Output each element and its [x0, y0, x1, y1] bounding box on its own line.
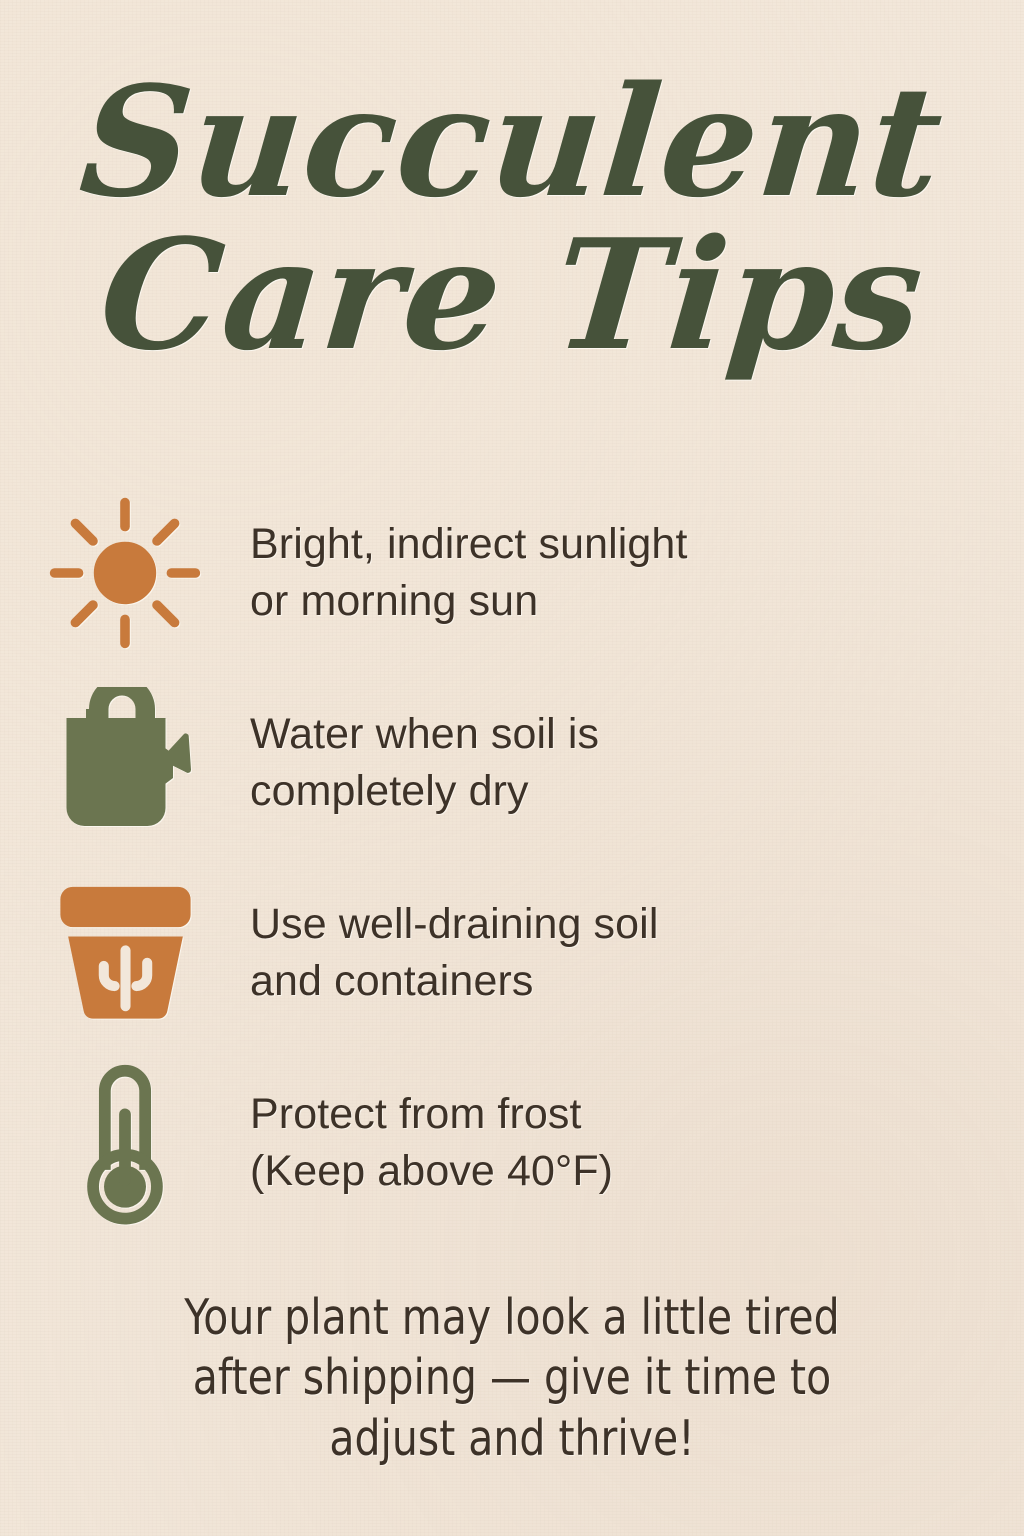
tip-text-soil: Use well-draining soil and containers	[250, 896, 658, 1010]
footer-line-1: Your plant may look a little tired	[36, 1288, 988, 1348]
tip-watering-line-1: Water when soil is	[250, 710, 599, 758]
footer-line-2: after shipping — give it time to	[36, 1348, 988, 1408]
tip-sunlight-line-1: Bright, indirect sunlight	[250, 520, 688, 568]
footer-note: Your plant may look a little tired after…	[36, 1288, 988, 1469]
plant-pot-icon	[0, 876, 250, 1031]
tip-text-frost: Protect from frost (Keep above 40°F)	[250, 1086, 613, 1200]
tip-row-sunlight: Bright, indirect sunlight or morning sun	[0, 478, 1024, 668]
care-tips-list: Bright, indirect sunlight or morning sun…	[0, 478, 1024, 1238]
thermometer-icon	[0, 1059, 250, 1227]
tip-soil-line-1: Use well-draining soil	[250, 900, 658, 948]
title-line-2: Care Tips	[0, 213, 1024, 377]
tip-frost-line-2: (Keep above 40°F)	[250, 1147, 613, 1195]
tip-text-sunlight: Bright, indirect sunlight or morning sun	[250, 516, 688, 630]
sun-icon	[0, 493, 250, 653]
tip-soil-line-2: and containers	[250, 957, 533, 1005]
tip-row-soil: Use well-draining soil and containers	[0, 858, 1024, 1048]
tip-row-watering: Water when soil is completely dry	[0, 668, 1024, 858]
footer-line-3: adjust and thrive!	[36, 1409, 988, 1469]
title-line-1: Succulent	[0, 64, 1024, 219]
watering-can-icon	[0, 687, 250, 839]
tip-row-frost: Protect from frost (Keep above 40°F)	[0, 1048, 1024, 1238]
poster-title: Succulent Care Tips	[0, 64, 1024, 377]
succulent-care-tips-poster: Succulent Care Tips	[0, 0, 1024, 1536]
tip-text-watering: Water when soil is completely dry	[250, 706, 599, 820]
tip-sunlight-line-2: or morning sun	[250, 577, 538, 625]
tip-frost-line-1: Protect from frost	[250, 1090, 582, 1138]
tip-watering-line-2: completely dry	[250, 767, 529, 815]
